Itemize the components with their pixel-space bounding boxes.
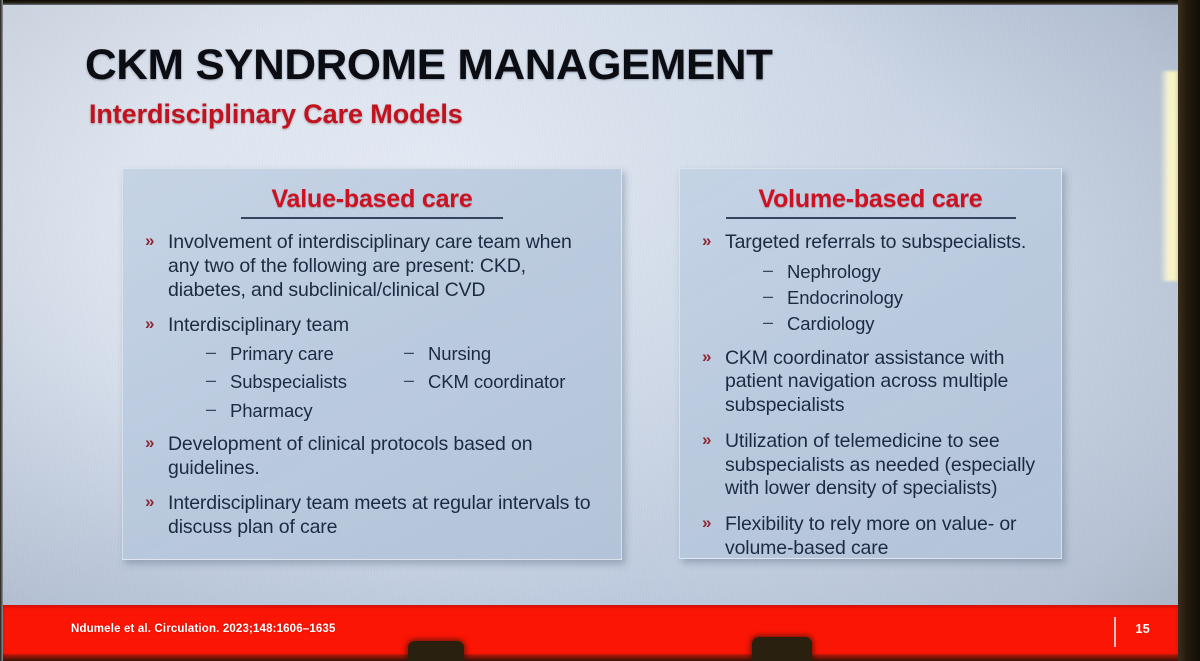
chevron-bullet-icon: » <box>702 231 711 252</box>
footer-divider <box>1114 617 1116 647</box>
list-item-text: Utilization of telemedicine to see subsp… <box>725 430 1035 500</box>
list-item: » Involvement of interdisciplinary care … <box>137 231 607 302</box>
dash-bullet-icon: – <box>206 368 216 394</box>
sub-list-item-text: Nursing <box>428 343 491 364</box>
panel-content-right: Volume-based care » Targeted referrals t… <box>680 169 1061 573</box>
chevron-bullet-icon: » <box>702 347 711 368</box>
sub-list-item-text: Nephrology <box>787 261 881 282</box>
list-item: » CKM coordinator assistance with patien… <box>694 347 1047 418</box>
dash-bullet-icon: – <box>763 310 773 336</box>
sub-list-item-text: Primary care <box>230 343 334 364</box>
dash-bullet-icon: – <box>404 368 414 394</box>
dash-bullet-icon: – <box>206 397 216 423</box>
foreground-shadow <box>0 654 1200 661</box>
list-item: » Utilization of telemedicine to see sub… <box>694 430 1047 501</box>
page-title: CKM SYNDROME MANAGEMENT <box>85 43 772 89</box>
page-number: 15 <box>1135 622 1150 636</box>
list-item-text: Targeted referrals to subspecialists. <box>725 231 1026 253</box>
audience-silhouette <box>408 641 464 661</box>
sub-list-item-text: Pharmacy <box>230 400 312 421</box>
dash-bullet-icon: – <box>404 340 414 366</box>
sub-list-item-text: CKM coordinator <box>428 371 565 392</box>
panel-heading-value-based-care: Value-based care <box>137 185 607 214</box>
audience-silhouette <box>752 637 812 661</box>
presentation-slide: CKM SYNDROME MANAGEMENT Interdisciplinar… <box>3 5 1178 661</box>
dash-bullet-icon: – <box>763 284 773 310</box>
chevron-bullet-icon: » <box>702 513 711 534</box>
screen-bezel-right <box>1178 0 1200 661</box>
list-item-text: Interdisciplinary team meets at regular … <box>168 492 590 538</box>
bullet-list-value-based-care: » Involvement of interdisciplinary care … <box>137 231 607 540</box>
page-subtitle: Interdisciplinary Care Models <box>89 100 759 130</box>
sub-list-item: – Endocrinology <box>759 285 1047 311</box>
projected-slide-photo: CKM SYNDROME MANAGEMENT Interdisciplinar… <box>0 0 1200 661</box>
chevron-bullet-icon: » <box>145 231 154 252</box>
heading-underline <box>726 217 1016 219</box>
list-item-text: Involvement of interdisciplinary care te… <box>168 231 572 301</box>
list-item: » Development of clinical protocols base… <box>137 433 607 481</box>
dash-bullet-icon: – <box>206 340 216 366</box>
list-item: » Targeted referrals to subspecialists. … <box>694 231 1047 338</box>
sub-list-item: – Primary care <box>202 341 400 367</box>
dash-bullet-icon: – <box>763 258 773 284</box>
chevron-bullet-icon: » <box>145 492 154 513</box>
sub-list-item: – Pharmacy <box>202 398 400 424</box>
footer-bar: Ndumele et al. Circulation. 2023;148:160… <box>3 605 1178 661</box>
list-item: » Interdisciplinary team – Primary care … <box>137 314 607 424</box>
bullet-list-volume-based-care: » Targeted referrals to subspecialists. … <box>694 231 1047 561</box>
sub-list-team-members: – Primary care – Nursing – Subspecialist… <box>168 341 607 424</box>
sub-list-item: – Cardiology <box>759 311 1047 337</box>
sub-list-item: – Nephrology <box>759 259 1047 285</box>
list-item-overflow: » Flexibility to rely more on value- or … <box>694 513 1047 561</box>
list-item: » Interdisciplinary team meets at regula… <box>137 492 607 540</box>
list-item-text: Flexibility to rely more on value- or vo… <box>725 513 1016 559</box>
panel-heading-volume-based-care: Volume-based care <box>694 185 1047 214</box>
chevron-bullet-icon: » <box>145 314 154 335</box>
sub-list-item-text: Subspecialists <box>230 371 347 392</box>
sub-list-specialties: – Nephrology – Endocrinology – Cardiolog… <box>725 259 1047 338</box>
sub-list-item: – CKM coordinator <box>400 369 607 395</box>
citation-text: Ndumele et al. Circulation. 2023;148:160… <box>71 623 336 635</box>
sub-list-item-text: Endocrinology <box>787 287 903 308</box>
heading-underline <box>241 217 503 219</box>
projector-glare <box>1160 71 1178 281</box>
sub-list-item-text: Cardiology <box>787 313 874 334</box>
sub-list-item: – Nursing <box>400 341 607 367</box>
panel-volume-based-care: Volume-based care » Targeted referrals t… <box>679 168 1062 559</box>
list-item-text: CKM coordinator assistance with patient … <box>725 347 1008 417</box>
list-item-text: Interdisciplinary team <box>168 314 349 336</box>
panel-content-left: Value-based care » Involvement of interd… <box>123 169 621 552</box>
sub-list-item: – Subspecialists <box>202 369 400 395</box>
list-item-text: Development of clinical protocols based … <box>168 433 532 479</box>
title-block: CKM SYNDROME MANAGEMENT Interdisciplinar… <box>85 43 759 129</box>
chevron-bullet-icon: » <box>702 430 711 451</box>
panel-value-based-care: Value-based care » Involvement of interd… <box>122 168 622 560</box>
chevron-bullet-icon: » <box>145 433 154 454</box>
